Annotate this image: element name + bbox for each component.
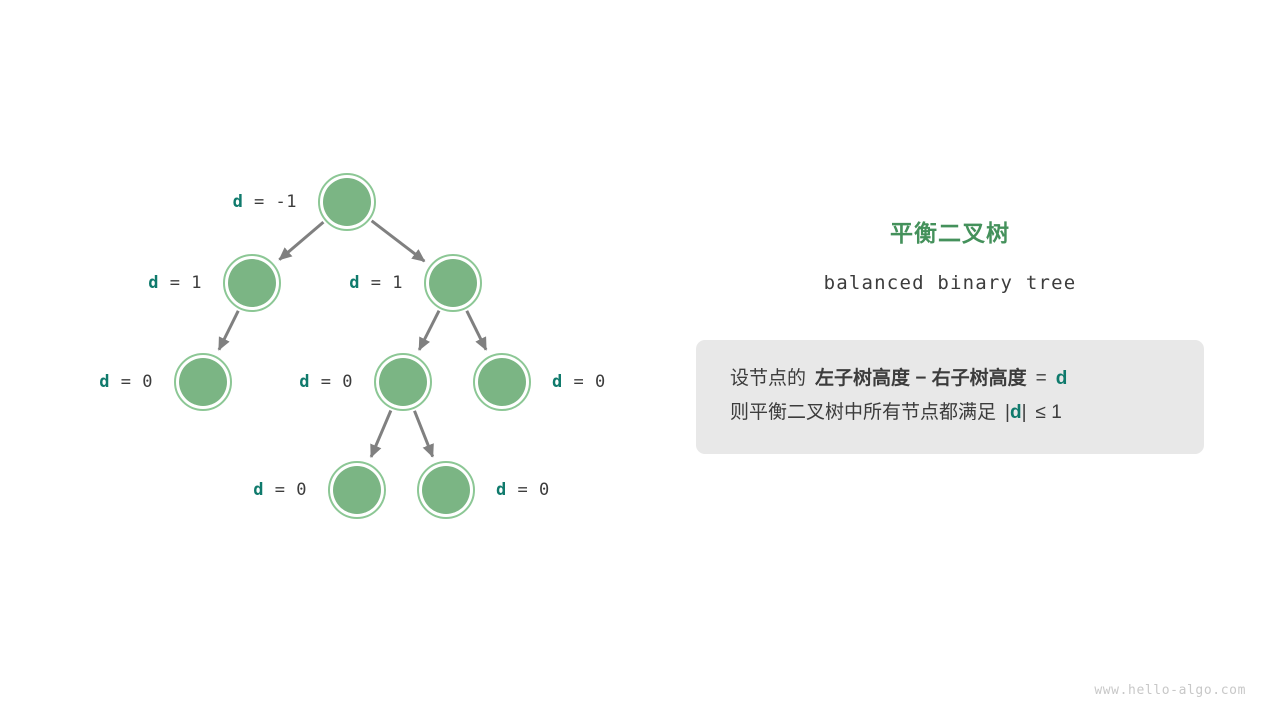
node-balance-value: = 1 bbox=[159, 273, 202, 293]
definition-line-2: 则平衡二叉树中所有节点都满足|d|≤ 1 bbox=[730, 396, 1170, 430]
watermark: www.hello-algo.com bbox=[1094, 683, 1246, 698]
tree-edge bbox=[219, 311, 238, 350]
page-title: 平衡二叉树 bbox=[696, 214, 1204, 248]
tree-edge bbox=[279, 222, 323, 260]
node-balance-variable: d bbox=[496, 480, 507, 500]
definition-line-2-relation: ≤ 1 bbox=[1036, 402, 1062, 423]
node-balance-value: = 0 bbox=[264, 480, 307, 500]
tree-node-disc bbox=[422, 466, 470, 514]
node-balance-label: d = 1 bbox=[148, 273, 202, 293]
tree-node bbox=[175, 354, 231, 410]
tree-edge bbox=[419, 311, 439, 350]
tree-node bbox=[319, 174, 375, 230]
node-balance-value: = 1 bbox=[360, 273, 403, 293]
tree-node-layer bbox=[175, 174, 530, 518]
tree-edge bbox=[467, 311, 486, 350]
tree-node bbox=[425, 255, 481, 311]
tree-node bbox=[224, 255, 280, 311]
node-balance-variable: d bbox=[253, 480, 264, 500]
tree-node bbox=[474, 354, 530, 410]
node-balance-label: d = 0 bbox=[299, 372, 353, 392]
tree-node-disc bbox=[179, 358, 227, 406]
node-balance-label: d = 1 bbox=[349, 273, 403, 293]
node-balance-label: d = -1 bbox=[233, 192, 297, 212]
node-balance-variable: d bbox=[299, 372, 310, 392]
illustration-canvas: d = -1d = 1d = 1d = 0d = 0d = 0d = 0d = … bbox=[0, 0, 1280, 720]
page-subtitle: balanced binary tree bbox=[696, 272, 1204, 294]
info-panel: 平衡二叉树 balanced binary tree 设节点的左子树高度 − 右… bbox=[696, 214, 1204, 454]
tree-node-disc bbox=[333, 466, 381, 514]
tree-edge bbox=[372, 221, 425, 261]
definition-line-2-variable: d bbox=[1010, 402, 1022, 423]
definition-line-1-prefix: 设节点的 bbox=[730, 368, 806, 389]
tree-edge bbox=[414, 411, 432, 457]
node-balance-label: d = 0 bbox=[99, 372, 153, 392]
node-balance-variable: d bbox=[148, 273, 159, 293]
node-balance-label: d = 0 bbox=[552, 372, 606, 392]
tree-node-disc bbox=[429, 259, 477, 307]
tree-edge bbox=[371, 411, 391, 457]
node-balance-label: d = 0 bbox=[496, 480, 550, 500]
definition-line-1-bold: 左子树高度 − 右子树高度 bbox=[815, 368, 1027, 389]
node-balance-variable: d bbox=[233, 192, 244, 212]
tree-node bbox=[329, 462, 385, 518]
tree-node-disc bbox=[379, 358, 427, 406]
node-balance-variable: d bbox=[552, 372, 563, 392]
tree-node-disc bbox=[228, 259, 276, 307]
definition-line-2-prefix: 则平衡二叉树中所有节点都满足 bbox=[730, 402, 996, 423]
definition-box: 设节点的左子树高度 − 右子树高度=d 则平衡二叉树中所有节点都满足|d|≤ 1 bbox=[696, 340, 1204, 454]
definition-line-2-abs-close: | bbox=[1022, 402, 1027, 423]
definition-line-1-variable: d bbox=[1056, 368, 1068, 389]
definition-line-1-equals: = bbox=[1036, 368, 1047, 389]
tree-node bbox=[375, 354, 431, 410]
node-balance-value: = -1 bbox=[243, 192, 297, 212]
definition-line-1: 设节点的左子树高度 − 右子树高度=d bbox=[730, 362, 1170, 396]
binary-tree-diagram: d = -1d = 1d = 1d = 0d = 0d = 0d = 0d = … bbox=[0, 0, 660, 720]
tree-node-disc bbox=[323, 178, 371, 226]
tree-svg bbox=[0, 0, 660, 720]
node-balance-variable: d bbox=[99, 372, 110, 392]
node-balance-value: = 0 bbox=[563, 372, 606, 392]
tree-node bbox=[418, 462, 474, 518]
node-balance-value: = 0 bbox=[507, 480, 550, 500]
tree-node-disc bbox=[478, 358, 526, 406]
node-balance-value: = 0 bbox=[110, 372, 153, 392]
node-balance-variable: d bbox=[349, 273, 360, 293]
node-balance-label: d = 0 bbox=[253, 480, 307, 500]
node-balance-value: = 0 bbox=[310, 372, 353, 392]
